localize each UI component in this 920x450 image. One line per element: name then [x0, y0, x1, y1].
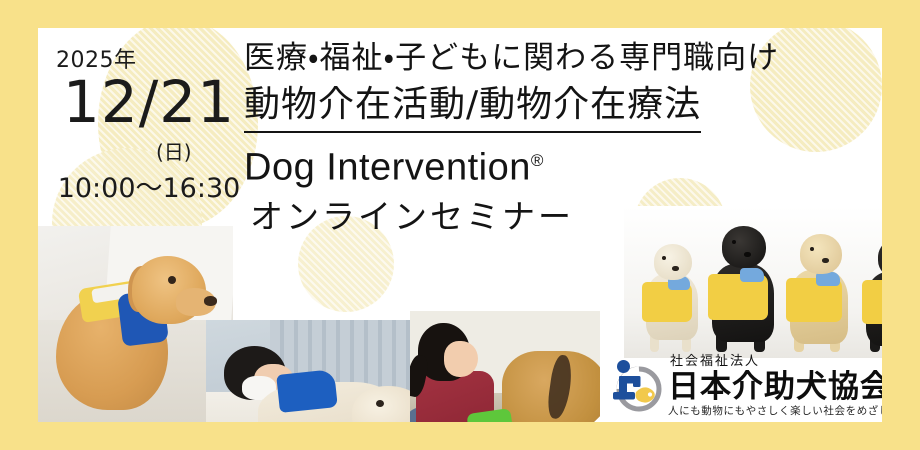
- organisation-name: 日本介助犬協会: [668, 370, 882, 404]
- dog-nose: [822, 258, 829, 263]
- dog-nose: [204, 296, 217, 306]
- service-dog-cream: [642, 232, 704, 352]
- event-time: 10:00〜16:30: [38, 166, 260, 205]
- organisation-logo: 社会福祉法人 日本介助犬協会 人にも動物にもやさしく楽しい社会をめざして: [606, 354, 882, 420]
- dog-eye: [810, 247, 814, 251]
- event-weekday: (日): [156, 136, 192, 165]
- wheelchair-user-and-dog-emblem-icon: [606, 356, 664, 414]
- dog-head: [722, 226, 766, 268]
- service-dog-black-2: [862, 228, 882, 352]
- dog-cape-blue: [816, 272, 840, 286]
- photo-girl-playing-with-golden-retriever: [410, 311, 600, 422]
- dog-nose: [672, 266, 679, 271]
- event-date: 12/21: [38, 68, 260, 136]
- banner-card: 2025年 12/21 (日) 10:00〜16:30 医療・福祉・子どもに関わ…: [38, 28, 882, 422]
- dog-cape-blue: [740, 268, 764, 282]
- dog-eye: [168, 276, 176, 284]
- service-dog-black: [706, 220, 780, 352]
- dog-cape-blue: [276, 369, 338, 413]
- dog-head: [654, 244, 692, 280]
- registered-trademark-icon: ®: [531, 151, 544, 170]
- service-dog-yellow-labrador: [786, 226, 856, 352]
- dog-eye: [662, 256, 666, 260]
- photo-child-lying-with-pale-labrador: [206, 320, 434, 422]
- dog-eye: [732, 240, 736, 244]
- dog-nose: [744, 252, 751, 257]
- program-name-line: Dog Intervention®: [244, 135, 882, 194]
- seminar-topic-line: 動物介在活動/動物介在療法: [244, 80, 701, 133]
- organisation-kind: 社会福祉法人: [668, 354, 882, 370]
- target-audience-line: 医療・福祉・子どもに関わる専門職向け: [244, 36, 882, 80]
- child-face: [444, 341, 478, 377]
- dog-head: [800, 234, 842, 274]
- program-name: Dog Intervention: [244, 147, 531, 189]
- event-date-block: 2025年 12/21 (日) 10:00〜16:30: [38, 28, 260, 218]
- seminar-banner: 2025年 12/21 (日) 10:00〜16:30 医療・福祉・子どもに関わ…: [0, 0, 920, 450]
- photo-four-service-dogs-in-capes: [624, 206, 882, 358]
- photo-golden-retriever-in-assistance-cape: [38, 226, 233, 422]
- organisation-logo-text: 社会福祉法人 日本介助犬協会 人にも動物にもやさしく楽しい社会をめざして: [668, 354, 882, 418]
- dog-cape-yellow: [862, 280, 882, 324]
- dog-eye: [376, 400, 384, 407]
- organisation-tagline: 人にも動物にもやさしく楽しい社会をめざして: [668, 404, 882, 418]
